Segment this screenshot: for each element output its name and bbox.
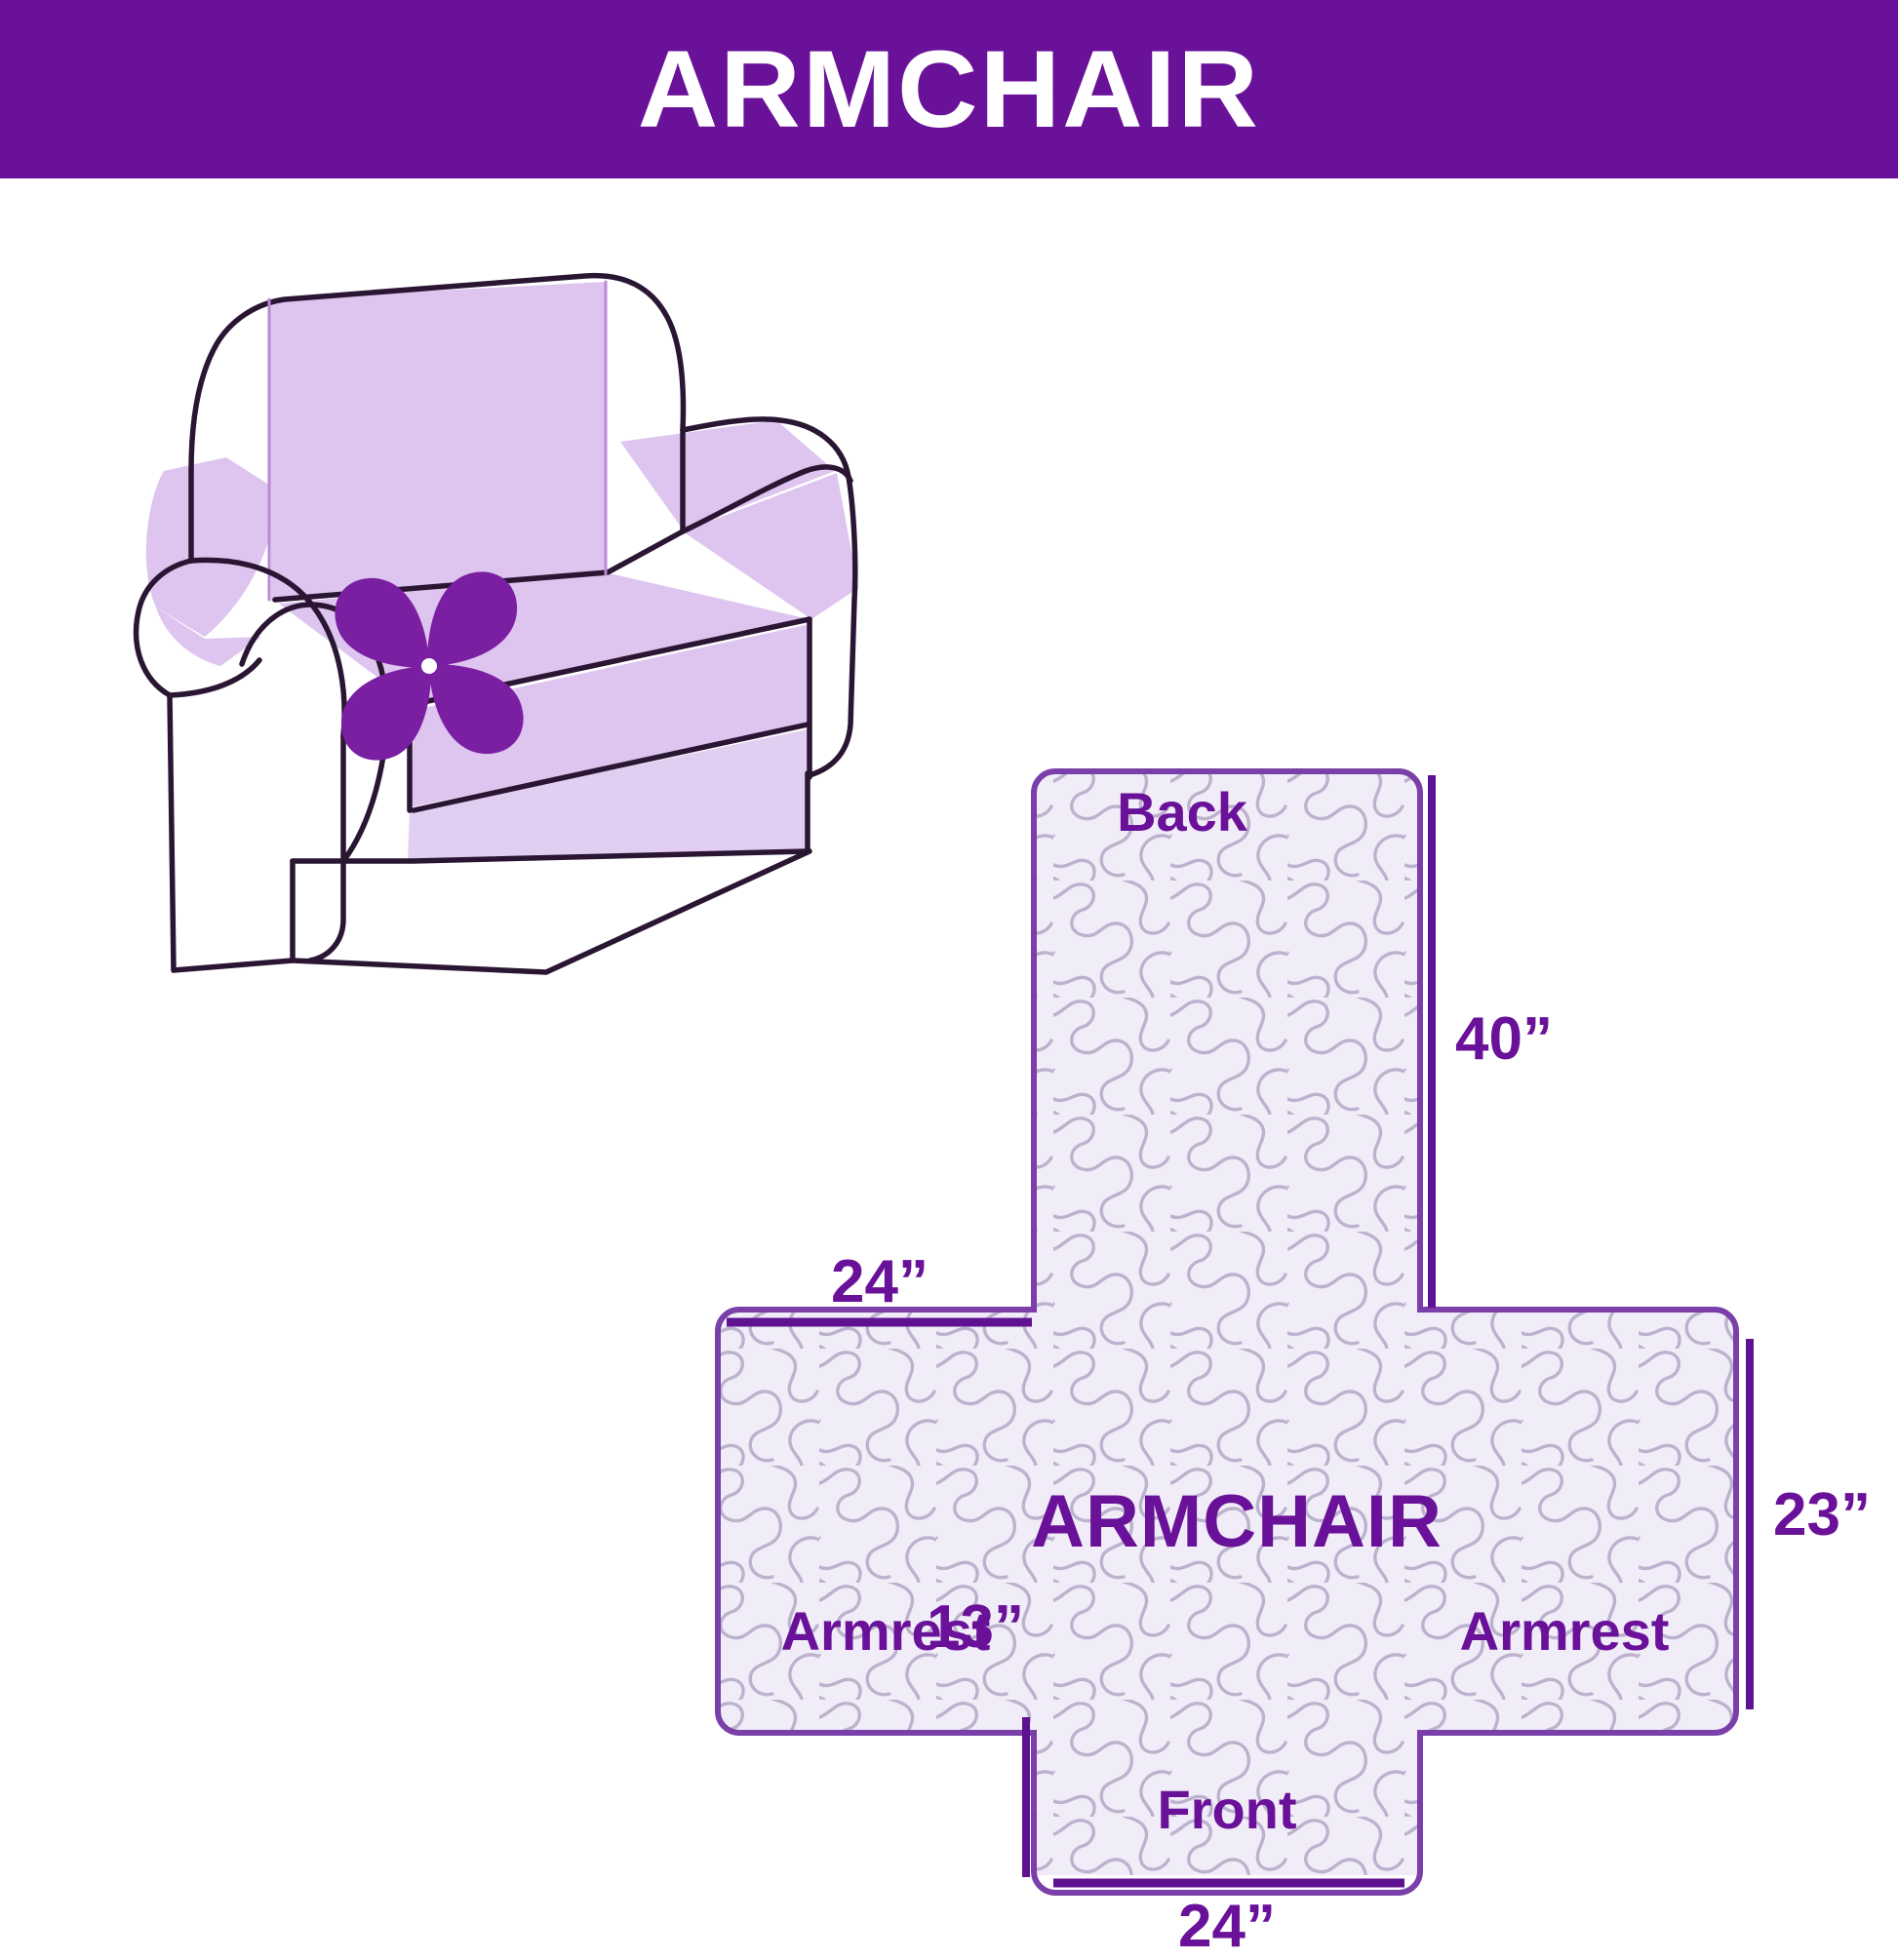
diagram-center-label: ARMCHAIR [1031, 1485, 1443, 1559]
armchair-illustration [137, 276, 858, 972]
header-banner: ARMCHAIR [0, 0, 1898, 178]
panel-label-armrest-right: Armrest [1460, 1604, 1670, 1659]
panel-label-front: Front [1157, 1783, 1296, 1837]
dimension-label-front-height: 13” [927, 1597, 1024, 1658]
panel-label-back: Back [1117, 785, 1247, 840]
dimension-label-back-height: 40” [1455, 1009, 1553, 1070]
page-title: ARMCHAIR [638, 35, 1260, 144]
content-stage: Back ARMCHAIR Armrest Armrest Front 40” … [0, 178, 1898, 1898]
dimension-label-armrest-width: 24” [831, 1252, 929, 1313]
dimension-label-armrest-height: 23” [1773, 1485, 1871, 1546]
dimension-label-front-width: 24” [1178, 1897, 1276, 1957]
